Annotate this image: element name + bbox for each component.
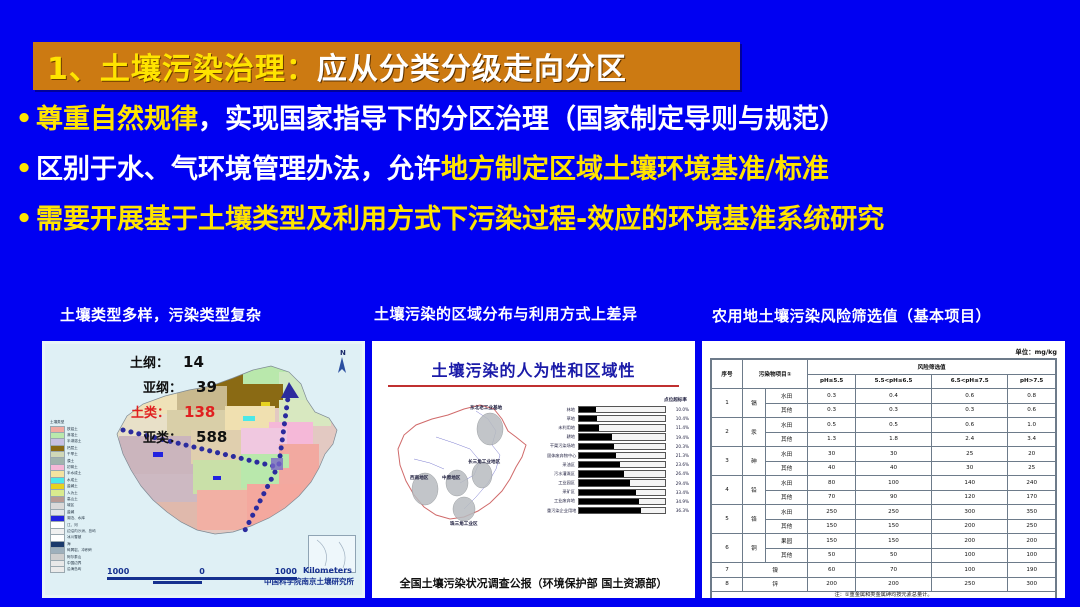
bar-track — [578, 507, 666, 514]
pollution-panel-title: 土壤污染的人为性和区域性 — [372, 357, 695, 381]
cell-threshold-value: 70 — [855, 563, 931, 578]
cell-threshold-value: 120 — [932, 490, 1008, 505]
bar-value-label: 20.3% — [666, 444, 689, 449]
panel-soil-map: N 土纲：14 亚纲：39 土类：138 亚类：588 土壤类型 铁铝土淋溶土半… — [42, 341, 365, 598]
cell-land-use: 水田 — [765, 389, 807, 404]
bar-fill — [579, 407, 596, 412]
scale-right: 1000 — [275, 567, 297, 576]
cell-pollutant-name: 铅 — [742, 476, 765, 505]
bar-value-label: 34.9% — [666, 499, 689, 504]
stat-value: 588 — [196, 428, 227, 446]
bar-category-label: 草地 — [547, 416, 578, 422]
legend-label: 中国边界 — [67, 561, 81, 566]
table-row: 1镉水田0.30.40.60.8 — [712, 389, 1056, 404]
cell-pollutant-name: 砷 — [742, 447, 765, 476]
cell-index: 7 — [712, 563, 743, 578]
cell-threshold-value: 0.3 — [855, 403, 931, 418]
bar-chart-row: 重污染企业用地36.3% — [547, 506, 689, 515]
page-title: 1、土壤污染治理：应从分类分级走向分区 — [33, 44, 627, 88]
region-label-central: 中原地区 — [442, 475, 460, 481]
cell-threshold-value: 170 — [1008, 490, 1056, 505]
cell-threshold-value: 0.3 — [808, 389, 856, 404]
th-ph-4: pH>7.5 — [1008, 374, 1056, 389]
cell-pollutant-name: 镉 — [742, 389, 765, 418]
bar-chart-row: 草地10.4% — [547, 414, 689, 423]
bar-value-label: 36.3% — [666, 508, 689, 513]
legend-label: 阿尔泰山 — [67, 555, 81, 560]
table-note-1: 注：①重金属和类金属砷均按元素总量计。 — [712, 592, 1055, 598]
bullet-item-2: • 区别于水、气环境管理办法，允许地方制定区域土壤环境基准/标准 — [12, 153, 1072, 187]
cell-land-use: 其他 — [765, 461, 807, 476]
table-row: 2汞水田0.50.50.61.0 — [712, 418, 1056, 433]
bar-category-label: 重污染企业用地 — [547, 508, 578, 514]
bar-fill — [579, 444, 614, 449]
legend-label: 人为土 — [67, 491, 78, 496]
legend-label: 边沿内沙洲、岛屿 — [67, 529, 96, 534]
legend-label: 半水成土 — [67, 471, 81, 476]
cell-land-use: 水田 — [765, 418, 807, 433]
cell-threshold-value: 100 — [932, 563, 1008, 578]
pollution-panel-caption: 全国土壤污染状况调查公报（环境保护部 国土资源部） — [386, 577, 681, 592]
cell-index: 8 — [712, 577, 743, 592]
cell-threshold-value: 1.0 — [1008, 418, 1056, 433]
slide-root: 1、土壤污染治理：应从分类分级走向分区 • 尊重自然规律，实现国家指导下的分区治… — [0, 0, 1080, 607]
bar-category-label: 固体废弃物中心 — [547, 453, 578, 459]
panel-pollution-region: 土壤污染的人为性和区域性 东北老工业基地 中原地区 — [372, 341, 695, 598]
th-pollutant: 污染物项目① — [742, 360, 807, 389]
bar-track — [578, 470, 666, 477]
cell-threshold-value: 30 — [932, 461, 1008, 476]
bar-category-label: 未利用地 — [547, 425, 578, 431]
cell-threshold-value: 150 — [855, 534, 931, 549]
caption-right: 农用地土壤污染风险筛选值（基本项目） — [712, 305, 991, 326]
bar-chart-row: 固体废弃物中心21.3% — [547, 451, 689, 460]
bar-fill — [579, 480, 630, 485]
legend-label: 钙层土 — [67, 446, 78, 451]
bar-value-label: 33.4% — [666, 490, 689, 495]
bar-chart-row: 采矿区33.4% — [547, 488, 689, 497]
cell-threshold-value: 200 — [932, 519, 1008, 534]
bar-track — [578, 433, 666, 440]
cell-index: 2 — [712, 418, 743, 447]
stat-soil-order: 土纲：14 — [130, 352, 204, 371]
legend-label: 盐碱 — [67, 510, 74, 515]
table-row: 6铜果园150150200200 — [712, 534, 1056, 549]
cell-threshold-value: 40 — [855, 461, 931, 476]
bullet-list: • 尊重自然规律，实现国家指导下的分区治理（国家制定导则与规范） • 区别于水、… — [12, 103, 1072, 252]
cell-threshold-value: 1.8 — [855, 432, 931, 447]
cell-threshold-value: 240 — [1008, 476, 1056, 491]
bar-track — [578, 424, 666, 431]
bullet-1-yellow: 尊重自然规律 — [36, 104, 198, 135]
scale-mid: 0 — [199, 567, 205, 576]
bar-track — [578, 452, 666, 459]
cell-threshold-value: 250 — [855, 505, 931, 520]
legend-label: 江、河 — [67, 523, 78, 528]
cell-threshold-value: 200 — [932, 534, 1008, 549]
cell-threshold-value: 200 — [808, 577, 856, 592]
north-arrow-icon: N — [336, 348, 348, 376]
bar-category-label: 耕地 — [547, 434, 578, 440]
legend-label: 城区 — [67, 503, 74, 508]
bar-value-label: 10.0% — [666, 407, 689, 412]
table-body: 1镉水田0.30.40.60.8其他0.30.30.30.62汞水田0.50.5… — [712, 389, 1056, 592]
table-row: 7镍6070100190 — [712, 563, 1056, 578]
bar-fill — [579, 425, 599, 430]
bullet-2-white: 区别于水、气环境管理办法，允许 — [36, 154, 441, 185]
bar-chart-row: 未利用地11.4% — [547, 423, 689, 432]
stat-label: 土类： — [131, 406, 170, 421]
bullet-3-yellow: 需要开展基于土壤类型及利用方式下污染过程-效应的环境基准系统研究 — [36, 204, 884, 235]
bar-category-label: 干渠污染场地 — [547, 443, 578, 449]
cell-threshold-value: 250 — [1008, 519, 1056, 534]
cell-threshold-value: 200 — [855, 577, 931, 592]
cell-threshold-value: 350 — [1008, 505, 1056, 520]
cell-land-use: 其他 — [765, 548, 807, 563]
bar-value-label: 11.4% — [666, 425, 689, 430]
bar-track — [578, 479, 666, 486]
cell-pollutant-name: 铬 — [742, 505, 765, 534]
bar-value-label: 29.4% — [666, 481, 689, 486]
table-unit-label: 单位：mg/kg — [710, 347, 1057, 356]
cell-threshold-value: 70 — [808, 490, 856, 505]
table-note-row: 注：①重金属和类金属砷均按元素总量计。 ②对于水旱轮作地，采用其中较严格的风险筛… — [712, 592, 1056, 599]
scale-left: 1000 — [107, 567, 129, 576]
legend-label: 水成土 — [67, 478, 78, 483]
stat-label: 亚纲： — [143, 381, 182, 396]
cell-threshold-value: 150 — [808, 534, 856, 549]
cell-threshold-value: 250 — [808, 505, 856, 520]
cell-threshold-value: 250 — [932, 577, 1008, 592]
cell-threshold-value: 0.3 — [932, 403, 1008, 418]
title-head: 土壤污染治理： — [100, 52, 317, 87]
th-ph-1: pH≤5.5 — [808, 374, 856, 389]
cell-index: 4 — [712, 476, 743, 505]
cell-index: 3 — [712, 447, 743, 476]
cell-threshold-value: 150 — [808, 519, 856, 534]
bar-chart-row: 工业废弃地34.9% — [547, 497, 689, 506]
bullet-item-1: • 尊重自然规律，实现国家指导下的分区治理（国家制定导则与规范） — [12, 103, 1072, 137]
cell-threshold-value: 150 — [855, 519, 931, 534]
bar-chart-title: 点位超标率 — [547, 397, 689, 403]
bar-fill — [579, 471, 624, 476]
cell-threshold-value: 2.4 — [932, 432, 1008, 447]
bar-fill — [579, 416, 597, 421]
bar-chart-row: 采油区23.6% — [547, 460, 689, 469]
bar-category-label: 林地 — [547, 407, 578, 413]
cell-pollutant-name: 镍 — [742, 563, 807, 578]
cell-threshold-value: 30 — [808, 447, 856, 462]
panel-risk-table: 单位：mg/kg 序号 污染物项目① 风险筛选值 pH≤5.5 5.5<pH≤6… — [702, 341, 1065, 598]
stat-soil-suborder: 亚纲：39 — [143, 377, 217, 396]
cell-threshold-value: 200 — [1008, 534, 1056, 549]
bar-fill — [579, 499, 639, 504]
legend-label: 冰川雪被 — [67, 535, 81, 540]
cell-land-use: 水田 — [765, 476, 807, 491]
cell-threshold-value: 100 — [855, 476, 931, 491]
region-label-yangtze: 长三角工业地区 — [468, 459, 500, 465]
title-number: 1、 — [47, 52, 100, 87]
legend-label: 初育土 — [67, 465, 78, 470]
stat-soil-group: 土类：138 — [131, 402, 215, 421]
bar-category-label: 污水灌溉区 — [547, 471, 578, 477]
bullet-marker: • — [12, 203, 36, 237]
bar-chart-row: 工业园区29.4% — [547, 479, 689, 488]
cell-land-use: 水田 — [765, 447, 807, 462]
cell-threshold-value: 100 — [1008, 548, 1056, 563]
cell-threshold-value: 0.6 — [932, 418, 1008, 433]
legend-label: 铁铝土 — [67, 427, 78, 432]
cell-pollutant-name: 锌 — [742, 577, 807, 592]
bar-category-label: 采油区 — [547, 462, 578, 468]
slide-title-bar: 1、土壤污染治理：应从分类分级走向分区 — [33, 42, 740, 90]
risk-screening-table: 序号 污染物项目① 风险筛选值 pH≤5.5 5.5<pH≤6.5 6.5<pH… — [711, 359, 1056, 598]
cell-threshold-value: 0.5 — [855, 418, 931, 433]
table-row: 5铬水田250250300350 — [712, 505, 1056, 520]
cell-threshold-value: 0.3 — [808, 403, 856, 418]
table-foot: 注：①重金属和类金属砷均按元素总量计。 ②对于水旱轮作地，采用其中较严格的风险筛… — [712, 592, 1056, 599]
table-header-row-1: 序号 污染物项目① 风险筛选值 — [712, 360, 1056, 375]
cell-pollutant-name: 铜 — [742, 534, 765, 563]
legend-label: 湖泊、水库 — [67, 516, 85, 521]
caption-left: 土壤类型多样，污染类型复杂 — [60, 304, 262, 325]
bar-value-label: 23.6% — [666, 462, 689, 467]
bar-category-label: 工业废弃地 — [547, 498, 578, 504]
bar-value-label: 21.3% — [666, 453, 689, 458]
table-row: 3砷水田30302520 — [712, 447, 1056, 462]
cell-threshold-value: 20 — [1008, 447, 1056, 462]
legend-label: 漠土 — [67, 459, 74, 464]
title-underline — [388, 385, 679, 387]
th-ph-3: 6.5<pH≤7.5 — [932, 374, 1008, 389]
stat-label: 土纲： — [130, 356, 169, 371]
cell-threshold-value: 30 — [855, 447, 931, 462]
cell-threshold-value: 50 — [855, 548, 931, 563]
cell-threshold-value: 0.4 — [855, 389, 931, 404]
cell-index: 5 — [712, 505, 743, 534]
legend-label: 淋溶土 — [67, 433, 78, 438]
stat-value: 138 — [184, 403, 215, 421]
region-label-southwest: 西南地区 — [410, 475, 428, 481]
china-soil-map-graphic — [93, 356, 355, 556]
exceedance-bar-chart: 点位超标率 林地10.0%草地10.4%未利用地11.4%耕地19.4%干渠污染… — [547, 397, 689, 515]
bar-value-label: 19.4% — [666, 435, 689, 440]
region-label-pearl: 珠三角工业区 — [450, 521, 478, 527]
table-row: 8锌200200250300 — [712, 577, 1056, 592]
bullet-item-3: • 需要开展基于土壤类型及利用方式下污染过程-效应的环境基准系统研究 — [12, 203, 1072, 237]
bar-fill — [579, 434, 612, 439]
legend-swatch-icon — [50, 566, 65, 573]
legend-row: 沿海岛屿 — [50, 567, 96, 573]
cell-threshold-value: 300 — [932, 505, 1008, 520]
table-notes-cell: 注：①重金属和类金属砷均按元素总量计。 ②对于水旱轮作地，采用其中较严格的风险筛… — [712, 592, 1056, 599]
bar-track — [578, 406, 666, 413]
bar-category-label: 采矿区 — [547, 489, 578, 495]
cell-threshold-value: 0.8 — [1008, 389, 1056, 404]
bar-chart-row: 耕地19.4% — [547, 433, 689, 442]
legend-label: 干旱土 — [67, 452, 78, 457]
cell-threshold-value: 40 — [808, 461, 856, 476]
cell-threshold-value: 3.4 — [1008, 432, 1056, 447]
caption-middle: 土壤污染的区域分布与利用方式上差异 — [374, 303, 638, 324]
map-credit: 中国科学院南京土壤研究所 — [264, 576, 354, 587]
cell-threshold-value: 190 — [1008, 563, 1056, 578]
stat-label: 亚类： — [143, 431, 182, 446]
scale-unit-label: Kilometers — [303, 566, 352, 575]
th-index: 序号 — [712, 360, 743, 389]
soil-map-canvas: N 土纲：14 亚纲：39 土类：138 亚类：588 土壤类型 铁铝土淋溶土半… — [45, 344, 362, 595]
legend-label: 盐碱土 — [67, 484, 78, 489]
cell-threshold-value: 25 — [932, 447, 1008, 462]
region-label-northeast: 东北老工业基地 — [470, 405, 502, 411]
cell-threshold-value: 1.3 — [808, 432, 856, 447]
legend-title: 土壤类型 — [50, 420, 96, 425]
cell-threshold-value: 90 — [855, 490, 931, 505]
china-pollution-map-graphic: 东北老工业基地 中原地区 西南地区 长三角工业地区 珠三角工业区 — [384, 397, 544, 537]
bar-chart-row: 林地10.0% — [547, 405, 689, 414]
cell-land-use: 其他 — [765, 403, 807, 418]
th-ph-2: 5.5<pH≤6.5 — [855, 374, 931, 389]
cell-threshold-value: 80 — [808, 476, 856, 491]
bar-value-label: 26.4% — [666, 471, 689, 476]
bar-track — [578, 461, 666, 468]
legend-label: 半淋溶土 — [67, 439, 81, 444]
cell-threshold-value: 140 — [932, 476, 1008, 491]
bullet-2-yellow: 地方制定区域土壤环境基准/标准 — [441, 154, 829, 185]
cell-pollutant-name: 汞 — [742, 418, 765, 447]
bar-chart-row: 污水灌溉区26.4% — [547, 469, 689, 478]
cell-threshold-value: 0.6 — [1008, 403, 1056, 418]
cell-threshold-value: 50 — [808, 548, 856, 563]
cell-threshold-value: 100 — [932, 548, 1008, 563]
legend-label: 沿海岛屿 — [67, 567, 81, 572]
cell-threshold-value: 0.5 — [808, 418, 856, 433]
bar-track — [578, 443, 666, 450]
bar-value-label: 10.4% — [666, 416, 689, 421]
cell-land-use: 其他 — [765, 519, 807, 534]
bar-fill — [579, 508, 641, 513]
bullet-1-white: ，实现国家指导下的分区治理（国家制定导则与规范） — [198, 104, 846, 135]
th-risk-group: 风险筛选值 — [808, 360, 1056, 375]
cell-threshold-value: 25 — [1008, 461, 1056, 476]
stat-value: 39 — [196, 378, 217, 396]
bar-track — [578, 489, 666, 496]
cell-land-use: 水田 — [765, 505, 807, 520]
table-head: 序号 污染物项目① 风险筛选值 pH≤5.5 5.5<pH≤6.5 6.5<pH… — [712, 360, 1056, 389]
legend-label: 海 — [67, 542, 71, 547]
cell-index: 6 — [712, 534, 743, 563]
svg-text:N: N — [340, 349, 346, 357]
legend-label: 高山土 — [67, 497, 78, 502]
bullet-marker: • — [12, 103, 36, 137]
cell-land-use: 果园 — [765, 534, 807, 549]
stat-value: 14 — [183, 353, 204, 371]
table-row: 4铅水田80100140240 — [712, 476, 1056, 491]
bar-track — [578, 415, 666, 422]
stat-soil-subgroup: 亚类：588 — [143, 427, 227, 446]
bar-chart-row: 干渠污染场地20.3% — [547, 442, 689, 451]
cell-threshold-value: 0.6 — [932, 389, 1008, 404]
bar-fill — [579, 490, 636, 495]
bar-fill — [579, 453, 616, 458]
cell-threshold-value: 60 — [808, 563, 856, 578]
cell-threshold-value: 300 — [1008, 577, 1056, 592]
cell-land-use: 其他 — [765, 490, 807, 505]
bar-category-label: 工业园区 — [547, 480, 578, 486]
soil-map-legend: 土壤类型 铁铝土淋溶土半淋溶土钙层土干旱土漠土初育土半水成土水成土盐碱土人为土高… — [50, 420, 96, 573]
title-tail: 应从分类分级走向分区 — [317, 52, 627, 87]
bullet-marker: • — [12, 153, 36, 187]
cell-index: 1 — [712, 389, 743, 418]
bar-track — [578, 498, 666, 505]
legend-label: 碎屑岩、冲积岭 — [67, 548, 92, 553]
cell-land-use: 其他 — [765, 432, 807, 447]
bar-fill — [579, 462, 620, 467]
risk-table-wrapper: 单位：mg/kg 序号 污染物项目① 风险筛选值 pH≤5.5 5.5<pH≤6… — [710, 347, 1057, 592]
